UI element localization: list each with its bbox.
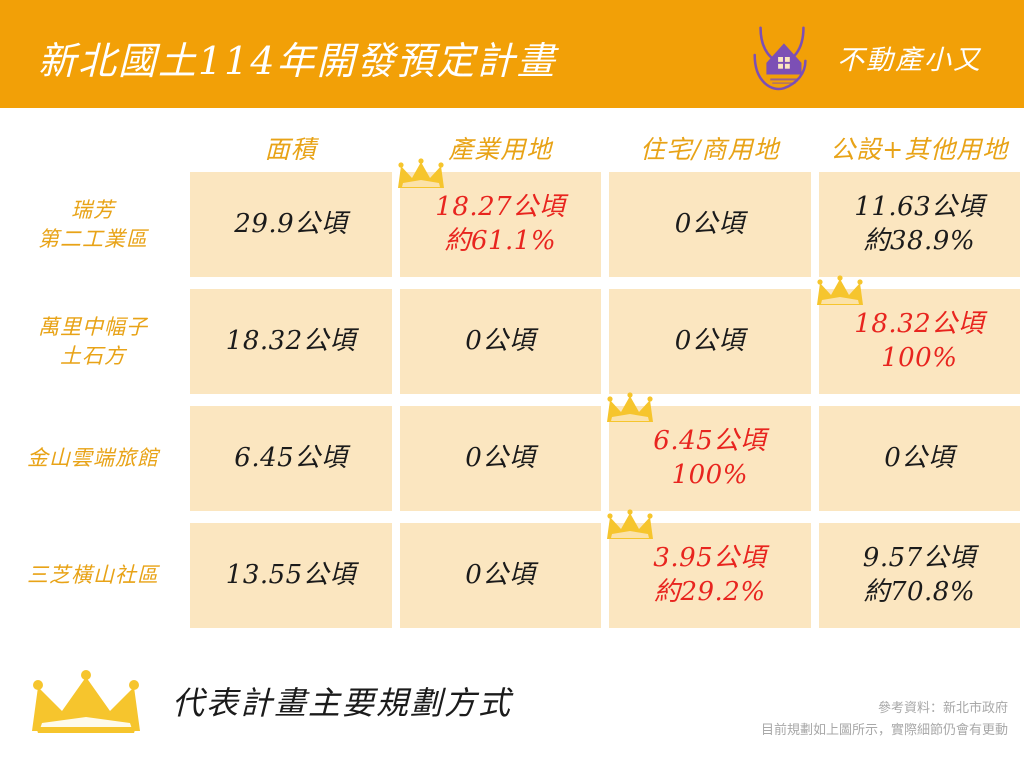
cell-content: 11.63公頃約38.9%	[819, 172, 1021, 277]
cell-content: 0公頃	[400, 523, 602, 628]
crown-icon	[22, 665, 150, 737]
cell-value: 0公頃	[884, 442, 954, 476]
row-label-line: 第二工業區	[38, 225, 148, 254]
row-label: 瑞芳第二工業區	[0, 168, 186, 281]
cell-value: 18.32公頃	[854, 308, 984, 342]
cell-percent: 100%	[881, 342, 957, 376]
brand-block: 不動產小又	[743, 18, 982, 96]
row-label-line: 萬里中幅子	[38, 313, 148, 342]
cell-content: 9.57公頃約70.8%	[819, 523, 1021, 628]
page-title: 新北國土114年開發預定計畫	[38, 30, 557, 85]
cell-percent: 約70.8%	[863, 576, 975, 610]
cell-percent: 約29.2%	[654, 576, 766, 610]
plan-table: 面積 產業用地 住宅/商用地 公設+其他用地 瑞芳第二工業區29.9公頃18.2…	[0, 116, 1024, 636]
cell-content: 6.45公頃	[190, 406, 392, 511]
cell-content: 29.9公頃	[190, 172, 392, 277]
column-header-label: 公設+其他用地	[819, 130, 1021, 166]
table-cell: 0公頃	[815, 402, 1024, 515]
cell-content: 0公頃	[400, 289, 602, 394]
cell-content: 13.55公頃	[190, 523, 392, 628]
cell-value: 6.45公頃	[653, 425, 766, 459]
cell-value: 11.63公頃	[854, 191, 984, 225]
table-row: 萬里中幅子土石方18.32公頃0公頃0公頃18.32公頃100%	[0, 285, 1024, 398]
legend-label: 代表計畫主要規劃方式	[172, 678, 512, 724]
table-cell: 29.9公頃	[186, 168, 396, 281]
cell-content: 0公頃	[609, 289, 811, 394]
table-cell: 18.32公頃	[186, 285, 396, 398]
cell-value: 18.27公頃	[435, 191, 565, 225]
cell-percent: 100%	[672, 459, 748, 493]
cell-value: 0公頃	[675, 325, 745, 359]
row-label-line: 瑞芳	[71, 196, 115, 225]
legend: 代表計畫主要規劃方式	[22, 665, 512, 737]
table-column-header-row: 面積 產業用地 住宅/商用地 公設+其他用地	[0, 116, 1024, 168]
cell-value: 18.32公頃	[226, 325, 356, 359]
house-swirl-logo-icon	[743, 18, 821, 96]
row-label: 三芝橫山社區	[0, 519, 186, 632]
cell-content: 18.27公頃約61.1%	[400, 172, 602, 277]
column-header-cell: 公設+其他用地	[815, 130, 1024, 166]
table-cell: 0公頃	[605, 285, 815, 398]
cell-content: 3.95公頃約29.2%	[609, 523, 811, 628]
cell-content: 0公頃	[400, 406, 602, 511]
table-cell: 11.63公頃約38.9%	[815, 168, 1024, 281]
cell-value: 0公頃	[465, 442, 535, 476]
table-cell: 6.45公頃	[186, 402, 396, 515]
cell-percent: 約38.9%	[863, 225, 975, 259]
row-label-line: 土石方	[60, 342, 126, 371]
table-cell: 18.32公頃100%	[815, 285, 1024, 398]
cell-value: 9.57公頃	[863, 542, 976, 576]
brand-name: 不動產小又	[837, 38, 982, 77]
table-row: 金山雲端旅館6.45公頃0公頃6.45公頃100%0公頃	[0, 402, 1024, 515]
table-cell: 3.95公頃約29.2%	[605, 519, 815, 632]
source-line-1: 參考資料：新北市政府	[761, 698, 1008, 720]
cell-value: 29.9公頃	[234, 208, 347, 242]
column-header-cell: 住宅/商用地	[605, 130, 815, 166]
column-header-label: 住宅/商用地	[609, 130, 811, 166]
table-cell: 0公頃	[396, 285, 606, 398]
cell-value: 0公頃	[465, 325, 535, 359]
table-cell: 6.45公頃100%	[605, 402, 815, 515]
table-row: 瑞芳第二工業區29.9公頃18.27公頃約61.1%0公頃11.63公頃約38.…	[0, 168, 1024, 281]
table-cell: 0公頃	[396, 519, 606, 632]
row-label-line: 金山雲端旅館	[27, 444, 159, 473]
cell-content: 0公頃	[819, 406, 1021, 511]
column-header-cell: 面積	[186, 130, 396, 166]
cell-value: 3.95公頃	[653, 542, 766, 576]
row-label-line: 三芝橫山社區	[27, 561, 159, 590]
slide-root: 新北國土114年開發預定計畫 不動產小又	[0, 0, 1024, 768]
cell-value: 0公頃	[675, 208, 745, 242]
table-cell: 0公頃	[605, 168, 815, 281]
source-note: 參考資料：新北市政府 目前規劃如上圖所示，實際細節仍會有更動	[761, 698, 1008, 742]
header-bar: 新北國土114年開發預定計畫 不動產小又	[0, 0, 1024, 108]
cell-value: 0公頃	[465, 559, 535, 593]
cell-content: 18.32公頃100%	[819, 289, 1021, 394]
cell-content: 18.32公頃	[190, 289, 392, 394]
table-cell: 0公頃	[396, 402, 606, 515]
cell-content: 6.45公頃100%	[609, 406, 811, 511]
row-label: 金山雲端旅館	[0, 402, 186, 515]
column-header-cell: 產業用地	[396, 130, 606, 166]
table-cell: 9.57公頃約70.8%	[815, 519, 1024, 632]
row-label: 萬里中幅子土石方	[0, 285, 186, 398]
cell-value: 13.55公頃	[226, 559, 356, 593]
column-header-label: 面積	[190, 130, 392, 166]
table-cell: 18.27公頃約61.1%	[396, 168, 606, 281]
table-row: 三芝橫山社區13.55公頃0公頃3.95公頃約29.2%9.57公頃約70.8%	[0, 519, 1024, 632]
column-header-label: 產業用地	[400, 130, 602, 166]
table-body: 瑞芳第二工業區29.9公頃18.27公頃約61.1%0公頃11.63公頃約38.…	[0, 168, 1024, 632]
source-line-2: 目前規劃如上圖所示，實際細節仍會有更動	[761, 720, 1008, 742]
cell-content: 0公頃	[609, 172, 811, 277]
cell-value: 6.45公頃	[234, 442, 347, 476]
table-cell: 13.55公頃	[186, 519, 396, 632]
cell-percent: 約61.1%	[444, 225, 556, 259]
